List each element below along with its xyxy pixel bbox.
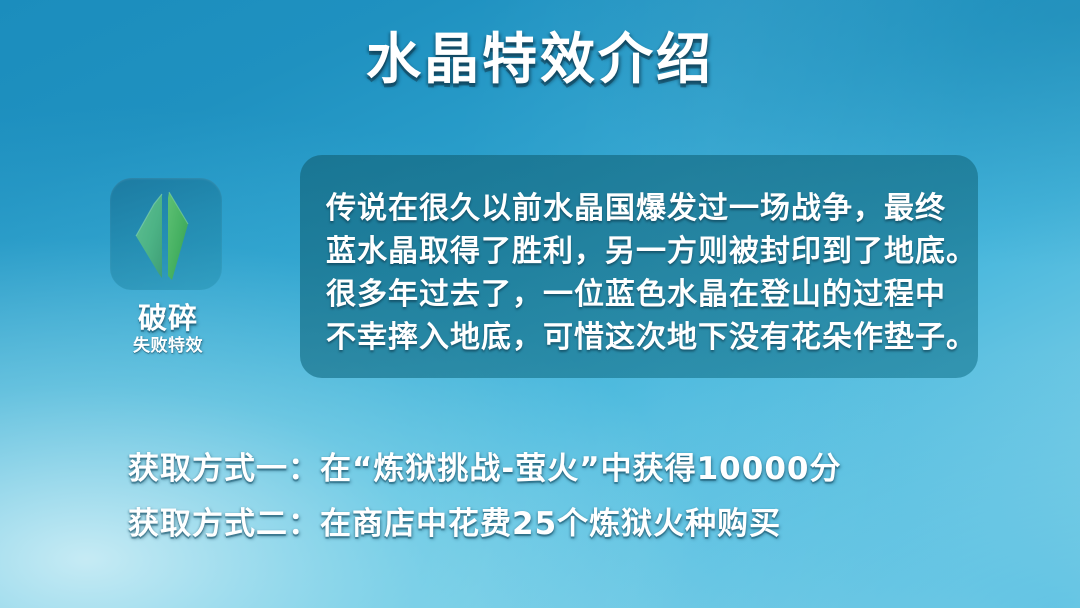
story-line: 传说在很久以前水晶国爆发过一场战争，最终 — [326, 187, 954, 230]
story-line: 不幸摔入地底，可惜这次地下没有花朵作垫子。 — [326, 316, 954, 359]
page-title: 水晶特效介绍 — [0, 28, 1080, 90]
story-line: 很多年过去了，一位蓝色水晶在登山的过程中 — [326, 273, 954, 316]
cracked-crystal-icon[interactable] — [110, 178, 222, 290]
story-line: 蓝水晶取得了胜利，另一方则被封印到了地底。 — [326, 230, 954, 273]
effect-icon-block[interactable]: 破碎 失败特效 — [110, 178, 226, 357]
acquisition-method-two: 获取方式二：在商店中花费25个炼狱火种购买 — [128, 505, 781, 543]
effect-subtitle: 失败特效 — [110, 336, 226, 357]
acquisition-method-one: 获取方式一：在“炼狱挑战-萤火”中获得10000分 — [128, 450, 841, 488]
effect-intro-screen: 水晶特效介绍 — [0, 0, 1080, 608]
effect-name: 破碎 — [110, 302, 226, 335]
story-panel: 传说在很久以前水晶国爆发过一场战争，最终 蓝水晶取得了胜利，另一方则被封印到了地… — [300, 155, 978, 378]
